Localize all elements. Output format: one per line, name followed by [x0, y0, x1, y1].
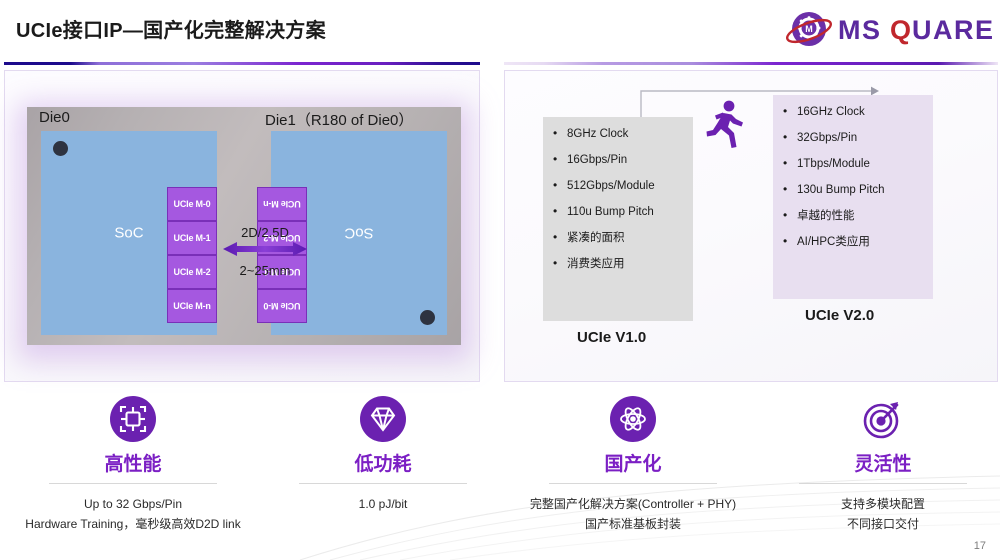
- die0-orientation-dot: [53, 141, 68, 156]
- ucie-module: UCIe M-n: [167, 289, 217, 323]
- list-item: 8GHz Clock: [553, 129, 693, 141]
- list-item: 卓越的性能: [783, 211, 933, 223]
- ucie-v2-caption: UCIe V2.0: [805, 307, 874, 324]
- package-substrate: Die0 Die1（R180 of Die0） SoC SoC UCIe M-0…: [27, 107, 461, 345]
- feature-flexibility: 灵活性 支持多模块配置 不同接口交付: [758, 396, 1000, 535]
- feature-title: 低功耗: [258, 449, 508, 476]
- feature-localization: 国产化 完整国产化解决方案(Controller + PHY) 国产标准基板封装: [508, 396, 758, 535]
- die1-label: Die1（R180 of Die0）: [265, 109, 413, 130]
- feature-rule: [49, 483, 217, 484]
- die-diagram-panel: Die0 Die1（R180 of Die0） SoC SoC UCIe M-0…: [4, 70, 480, 382]
- list-item: 110u Bump Pitch: [553, 207, 693, 219]
- page-title: UCIe接口IP—国产化完整解决方案: [16, 14, 326, 43]
- page-number: 17: [974, 540, 986, 552]
- svg-text:M: M: [805, 24, 813, 34]
- list-item: 512Gbps/Module: [553, 181, 693, 193]
- feature-title: 高性能: [8, 449, 258, 476]
- ucie-module: UCIe M-0: [167, 187, 217, 221]
- list-item: 32Gbps/Pin: [783, 133, 933, 145]
- ucie-v1-caption: UCIe V1.0: [577, 329, 646, 346]
- list-item: 紧凑的面积: [553, 233, 693, 245]
- die0-ucie-module-stack: UCIe M-0 UCIe M-1 UCIe M-2 UCIe M-n: [167, 187, 217, 323]
- atom-icon: [610, 396, 656, 442]
- feature-rule: [799, 483, 967, 484]
- ucie-v1-box: 8GHz Clock 16Gbps/Pin 512Gbps/Module 110…: [543, 117, 693, 321]
- feature-title: 国产化: [508, 449, 758, 476]
- ucie-v1-feature-list: 8GHz Clock 16Gbps/Pin 512Gbps/Module 110…: [543, 117, 693, 271]
- svg-text:UARE: UARE: [912, 15, 992, 45]
- feature-line: 支持多模块配置: [758, 495, 1000, 515]
- msquare-logo: M MS Q UARE: [786, 8, 992, 50]
- feature-rule: [299, 483, 467, 484]
- double-arrow-horizontal-icon: [223, 241, 307, 257]
- feature-high-performance: 高性能 Up to 32 Gbps/Pin Hardware Training，…: [8, 396, 258, 535]
- die0-label: Die0: [39, 109, 70, 126]
- die0-soc-label: SoC: [114, 225, 143, 242]
- list-item: 1Tbps/Module: [783, 159, 933, 171]
- feature-rule: [549, 483, 717, 484]
- feature-line: 完整国产化解决方案(Controller + PHY): [508, 495, 758, 515]
- list-item: 130u Bump Pitch: [783, 185, 933, 197]
- die1-soc-label: SoC: [344, 225, 373, 242]
- ucie-v2-box: 16GHz Clock 32Gbps/Pin 1Tbps/Module 130u…: [773, 95, 933, 299]
- gap-top-label: 2D/2.5D: [223, 225, 307, 240]
- planet-gear-icon: M: [786, 12, 833, 46]
- target-icon: [860, 396, 906, 442]
- die-gap-annotation: 2D/2.5D 2~25mm: [223, 225, 307, 278]
- list-item: AI/HPC类应用: [783, 237, 933, 249]
- feature-line: 国产标准基板封装: [508, 515, 758, 535]
- slide-header: UCIe接口IP—国产化完整解决方案: [0, 0, 1000, 58]
- running-person-icon: [703, 99, 747, 151]
- ucie-module: UCIe M-1: [167, 221, 217, 255]
- svg-text:Q: Q: [890, 15, 913, 45]
- feature-line: Hardware Training，毫秒级高效D2D link: [8, 515, 258, 535]
- list-item: 消费类应用: [553, 259, 693, 271]
- divider-left: [4, 62, 480, 65]
- slide-root: UCIe接口IP—国产化完整解决方案: [0, 0, 1000, 560]
- svg-text:MS: MS: [838, 15, 882, 45]
- die1-orientation-dot: [420, 310, 435, 325]
- diamond-icon: [360, 396, 406, 442]
- version-compare-panel: 8GHz Clock 16Gbps/Pin 512Gbps/Module 110…: [504, 70, 998, 382]
- list-item: 16GHz Clock: [783, 107, 933, 119]
- feature-low-power: 低功耗 1.0 pJ/bit: [258, 396, 508, 515]
- ucie-v2-feature-list: 16GHz Clock 32Gbps/Pin 1Tbps/Module 130u…: [773, 95, 933, 249]
- ucie-module: UCIe M-n: [257, 187, 307, 221]
- list-item: 16Gbps/Pin: [553, 155, 693, 167]
- msquare-wordmark: MS Q UARE: [838, 15, 992, 45]
- feature-line: 1.0 pJ/bit: [258, 495, 508, 515]
- feature-title: 灵活性: [758, 449, 1000, 476]
- divider-right: [504, 62, 998, 65]
- chip-icon: [110, 396, 156, 442]
- feature-line: Up to 32 Gbps/Pin: [8, 495, 258, 515]
- feature-line: 不同接口交付: [758, 515, 1000, 535]
- gap-bottom-label: 2~25mm: [223, 263, 307, 278]
- ucie-module: UCIe M-2: [167, 255, 217, 289]
- ucie-module: UCIe M-0: [257, 289, 307, 323]
